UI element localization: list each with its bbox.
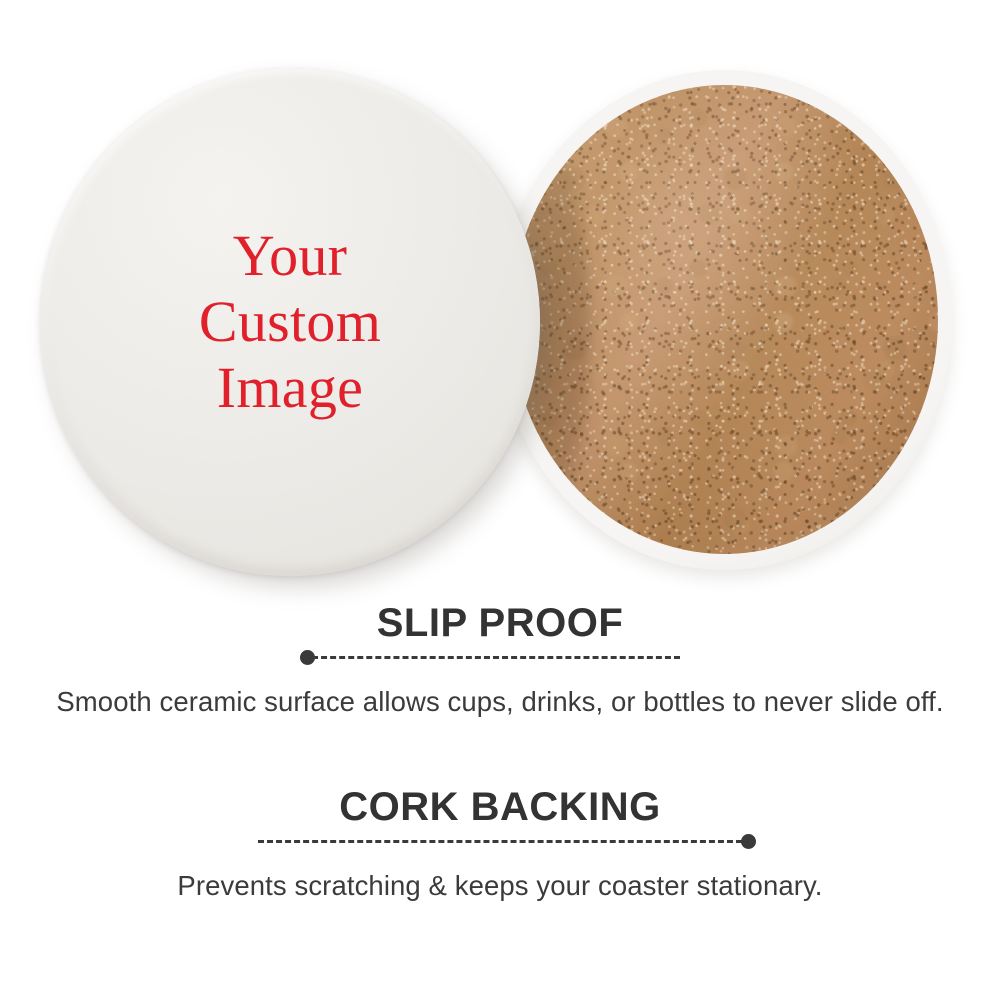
feature-divider-rule bbox=[0, 832, 1000, 850]
coaster-cork-backing bbox=[497, 70, 952, 570]
placeholder-line-2: Custom bbox=[199, 292, 381, 352]
dashed-line bbox=[312, 656, 680, 659]
feature-cork-backing: CORK BACKING Prevents scratching & keeps… bbox=[0, 786, 1000, 906]
feature-divider-rule bbox=[0, 648, 1000, 666]
dashed-line bbox=[258, 840, 742, 843]
product-feature-graphic: Your Custom Image SLIP PROOF Smooth cera… bbox=[0, 0, 1000, 1000]
coaster-front-face: Your Custom Image bbox=[40, 68, 540, 576]
rule-end-dot bbox=[741, 834, 756, 849]
feature-slip-proof: SLIP PROOF Smooth ceramic surface allows… bbox=[0, 602, 1000, 722]
placeholder-line-3: Image bbox=[217, 358, 363, 418]
cork-coaster-rim bbox=[497, 70, 952, 570]
feature-description: Prevents scratching & keeps your coaster… bbox=[0, 866, 1000, 905]
feature-list: SLIP PROOF Smooth ceramic surface allows… bbox=[0, 596, 1000, 905]
feature-description: Smooth ceramic surface allows cups, drin… bbox=[0, 682, 1000, 721]
custom-image-placeholder-text: Your Custom Image bbox=[40, 68, 540, 576]
rule-end-dot bbox=[300, 650, 315, 665]
feature-title: SLIP PROOF bbox=[0, 602, 1000, 644]
product-hero: Your Custom Image bbox=[0, 0, 1000, 600]
feature-title: CORK BACKING bbox=[0, 786, 1000, 828]
placeholder-line-1: Your bbox=[233, 226, 348, 286]
